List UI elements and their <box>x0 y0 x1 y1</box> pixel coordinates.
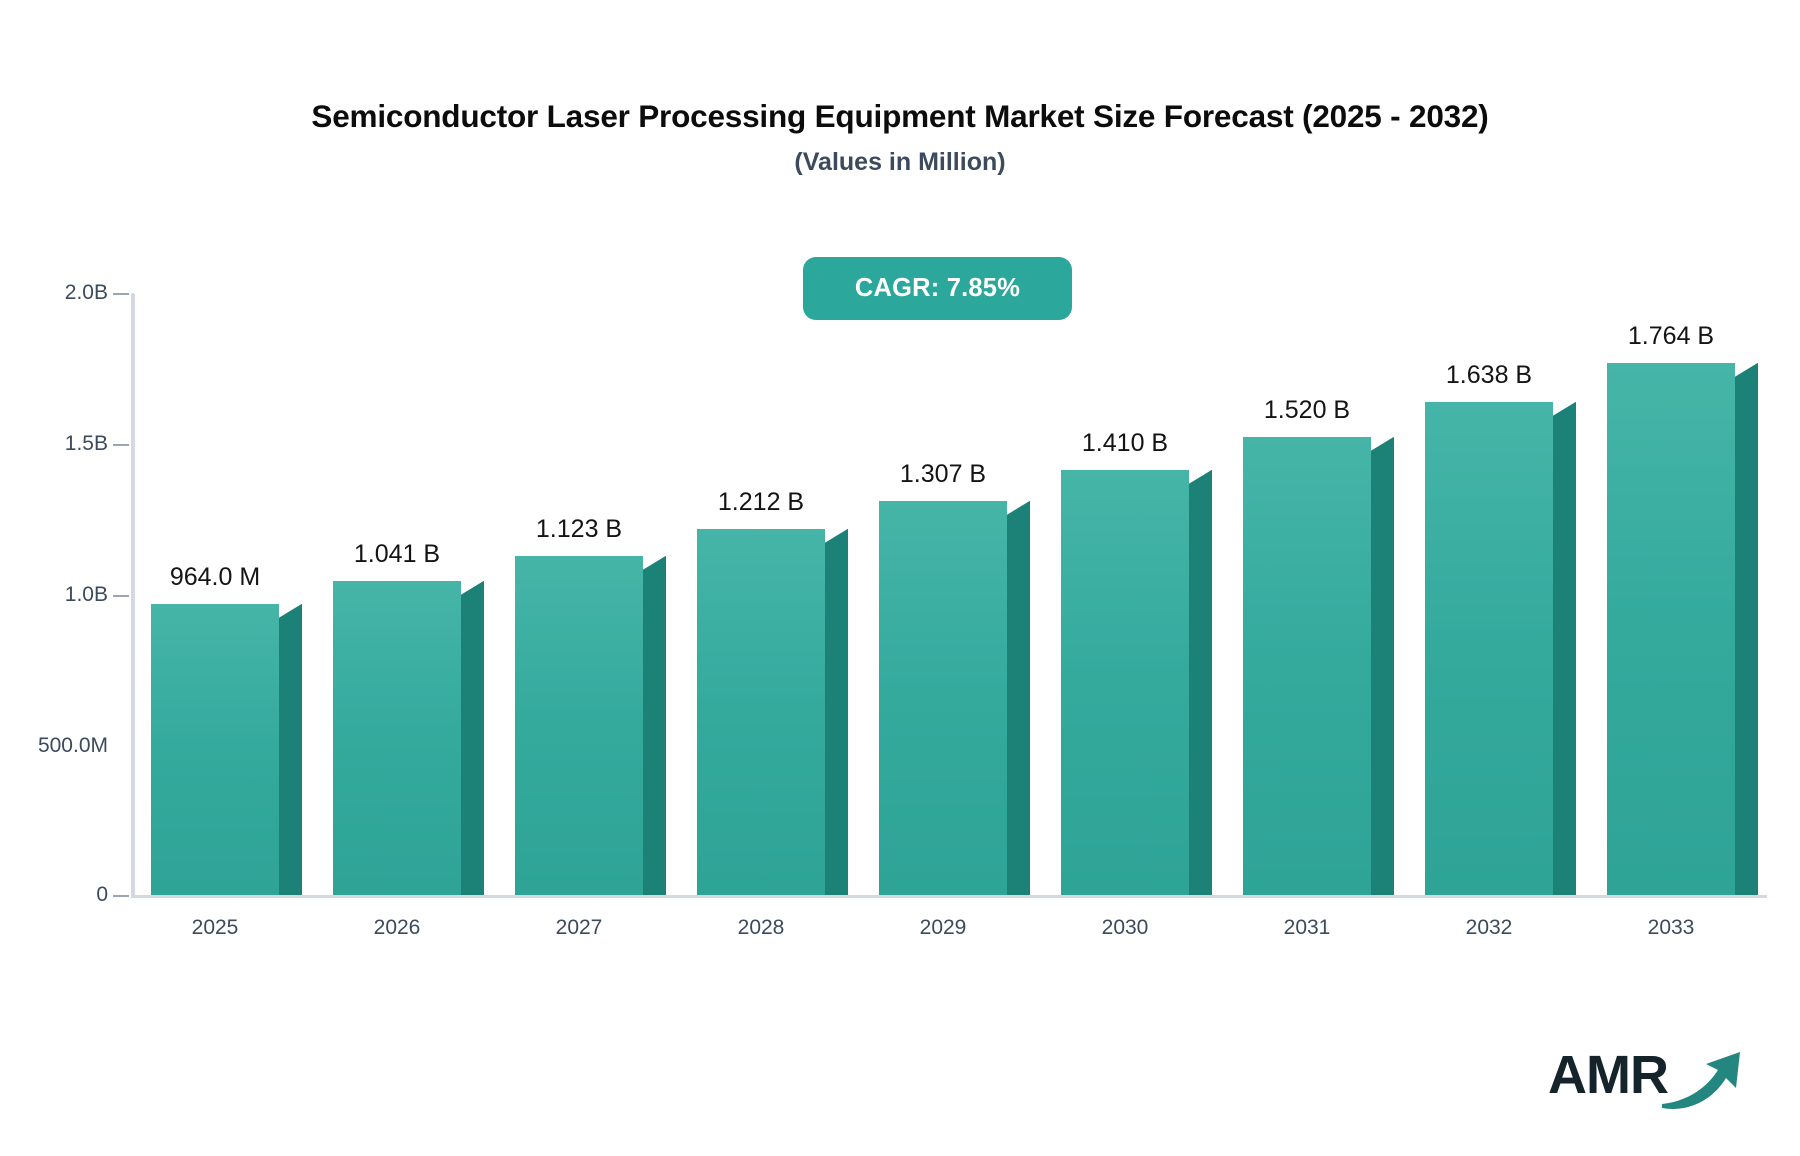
bar-side-face <box>1189 484 1212 895</box>
growth-arrow-icon <box>1660 1048 1748 1114</box>
x-tick-label-2030: 2030 <box>1025 916 1225 940</box>
chart-canvas: Semiconductor Laser Processing Equipment… <box>0 0 1800 1156</box>
bar-front-face <box>1243 437 1371 895</box>
bar-value-label: 1.212 B <box>661 488 861 517</box>
bar-group-2030[interactable]: 1.410 B <box>1061 470 1212 895</box>
bar-top-edge <box>643 556 666 570</box>
x-tick-label-2029: 2029 <box>843 916 1043 940</box>
bar-side-face <box>825 543 848 895</box>
bar-group-2025[interactable]: 964.0 M <box>151 604 302 895</box>
bar-front-face <box>151 604 279 895</box>
bar-front-face <box>1061 470 1189 895</box>
bar-value-label: 1.307 B <box>843 460 1043 489</box>
plot-area: 2.0B 1.5B 1.0B 500.0M 0 964.0 M 2025 1.0… <box>0 0 1800 1156</box>
bar-top-edge <box>1735 363 1758 377</box>
y-tick-label-1-0b: 1.0B <box>0 583 108 607</box>
bar-side-face <box>643 570 666 895</box>
bar-side-face <box>1553 416 1576 895</box>
bar-top-edge <box>1007 501 1030 515</box>
bar-top-edge <box>279 604 302 618</box>
y-tick-dash-2-0b <box>113 293 129 295</box>
bar-value-label: 1.520 B <box>1207 396 1407 425</box>
bar-group-2026[interactable]: 1.041 B <box>333 581 484 895</box>
bar-top-edge <box>825 529 848 543</box>
bar-value-label: 1.638 B <box>1389 361 1589 390</box>
bar-group-2029[interactable]: 1.307 B <box>879 501 1030 895</box>
y-tick-label-0: 0 <box>0 883 108 907</box>
bar-top-edge <box>1371 437 1394 451</box>
bar-front-face <box>515 556 643 895</box>
bar-group-2027[interactable]: 1.123 B <box>515 556 666 895</box>
bar-side-face <box>1735 377 1758 895</box>
y-tick-dash-0 <box>113 895 129 897</box>
bar-top-edge <box>1553 402 1576 416</box>
bar-value-label: 1.123 B <box>479 515 679 544</box>
y-tick-dash-1-0b <box>113 595 129 597</box>
bar-value-label: 1.410 B <box>1025 429 1225 458</box>
y-tick-label-2-0b: 2.0B <box>0 281 108 305</box>
bar-value-label: 964.0 M <box>115 563 315 592</box>
bar-front-face <box>697 529 825 895</box>
bar-front-face <box>333 581 461 895</box>
bar-side-face <box>1371 451 1394 895</box>
x-tick-label-2032: 2032 <box>1389 916 1589 940</box>
x-tick-label-2026: 2026 <box>297 916 497 940</box>
x-tick-label-2033: 2033 <box>1571 916 1771 940</box>
bar-front-face <box>1607 363 1735 895</box>
bar-front-face <box>1425 402 1553 895</box>
amr-logo-text: AMR <box>1548 1044 1668 1106</box>
x-tick-label-2031: 2031 <box>1207 916 1407 940</box>
bar-group-2033[interactable]: 1.764 B <box>1607 363 1758 895</box>
bar-group-2031[interactable]: 1.520 B <box>1243 437 1394 895</box>
bar-group-2032[interactable]: 1.638 B <box>1425 402 1576 895</box>
bar-side-face <box>279 618 302 895</box>
bar-side-face <box>1007 515 1030 895</box>
x-tick-label-2025: 2025 <box>115 916 315 940</box>
bar-front-face <box>879 501 1007 895</box>
bar-value-label: 1.041 B <box>297 540 497 569</box>
bar-side-face <box>461 595 484 895</box>
x-axis-line <box>131 895 1767 898</box>
bar-value-label: 1.764 B <box>1571 322 1771 351</box>
amr-logo: AMR <box>1548 1042 1738 1116</box>
y-tick-dash-1-5b <box>113 444 129 446</box>
y-tick-label-500m: 500.0M <box>0 734 108 758</box>
bar-top-edge <box>461 581 484 595</box>
y-tick-label-1-5b: 1.5B <box>0 432 108 456</box>
y-axis-line <box>131 293 135 897</box>
x-tick-label-2028: 2028 <box>661 916 861 940</box>
bar-group-2028[interactable]: 1.212 B <box>697 529 848 895</box>
x-tick-label-2027: 2027 <box>479 916 679 940</box>
bar-top-edge <box>1189 470 1212 484</box>
